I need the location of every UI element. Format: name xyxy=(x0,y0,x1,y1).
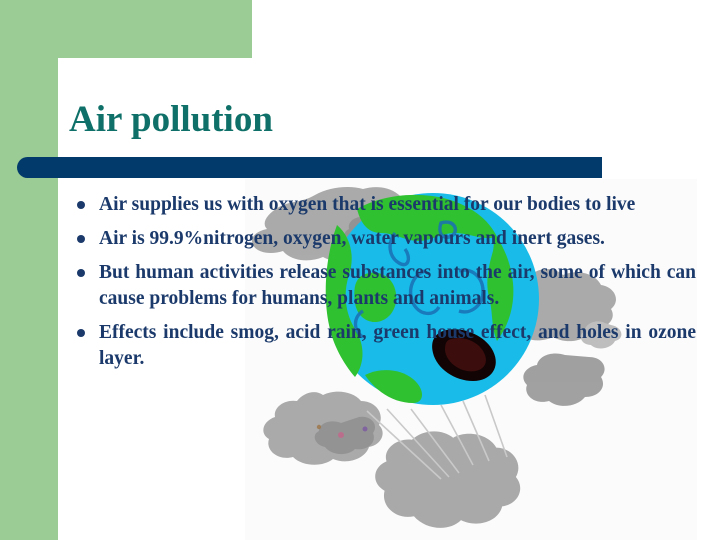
bullet-list: Air supplies us with oxygen that is esse… xyxy=(70,192,696,372)
list-item-text: Air is 99.9%nitrogen, oxygen, water vapo… xyxy=(99,226,696,252)
smoke-cloud-bottom xyxy=(375,431,520,527)
bullet-dot-icon xyxy=(77,269,85,277)
list-item-text: But human activities release substances … xyxy=(99,260,696,312)
list-item: Effects include smog, acid rain, green h… xyxy=(70,320,696,372)
list-item: But human activities release substances … xyxy=(70,260,696,312)
slide-canvas: Air pollution Air supplies us with oxyge… xyxy=(0,0,720,540)
page-title: Air pollution xyxy=(69,98,273,142)
list-item: Air supplies us with oxygen that is esse… xyxy=(70,192,696,218)
bullet-dot-icon xyxy=(77,329,85,337)
bullet-dot-icon xyxy=(77,235,85,243)
list-item: Air is 99.9%nitrogen, oxygen, water vapo… xyxy=(70,226,696,252)
bullet-dot-icon xyxy=(77,201,85,209)
title-divider-bar xyxy=(17,157,602,178)
list-item-text: Air supplies us with oxygen that is esse… xyxy=(99,192,696,218)
green-left-strip-decoration xyxy=(0,0,58,540)
list-item-text: Effects include smog, acid rain, green h… xyxy=(99,320,696,372)
